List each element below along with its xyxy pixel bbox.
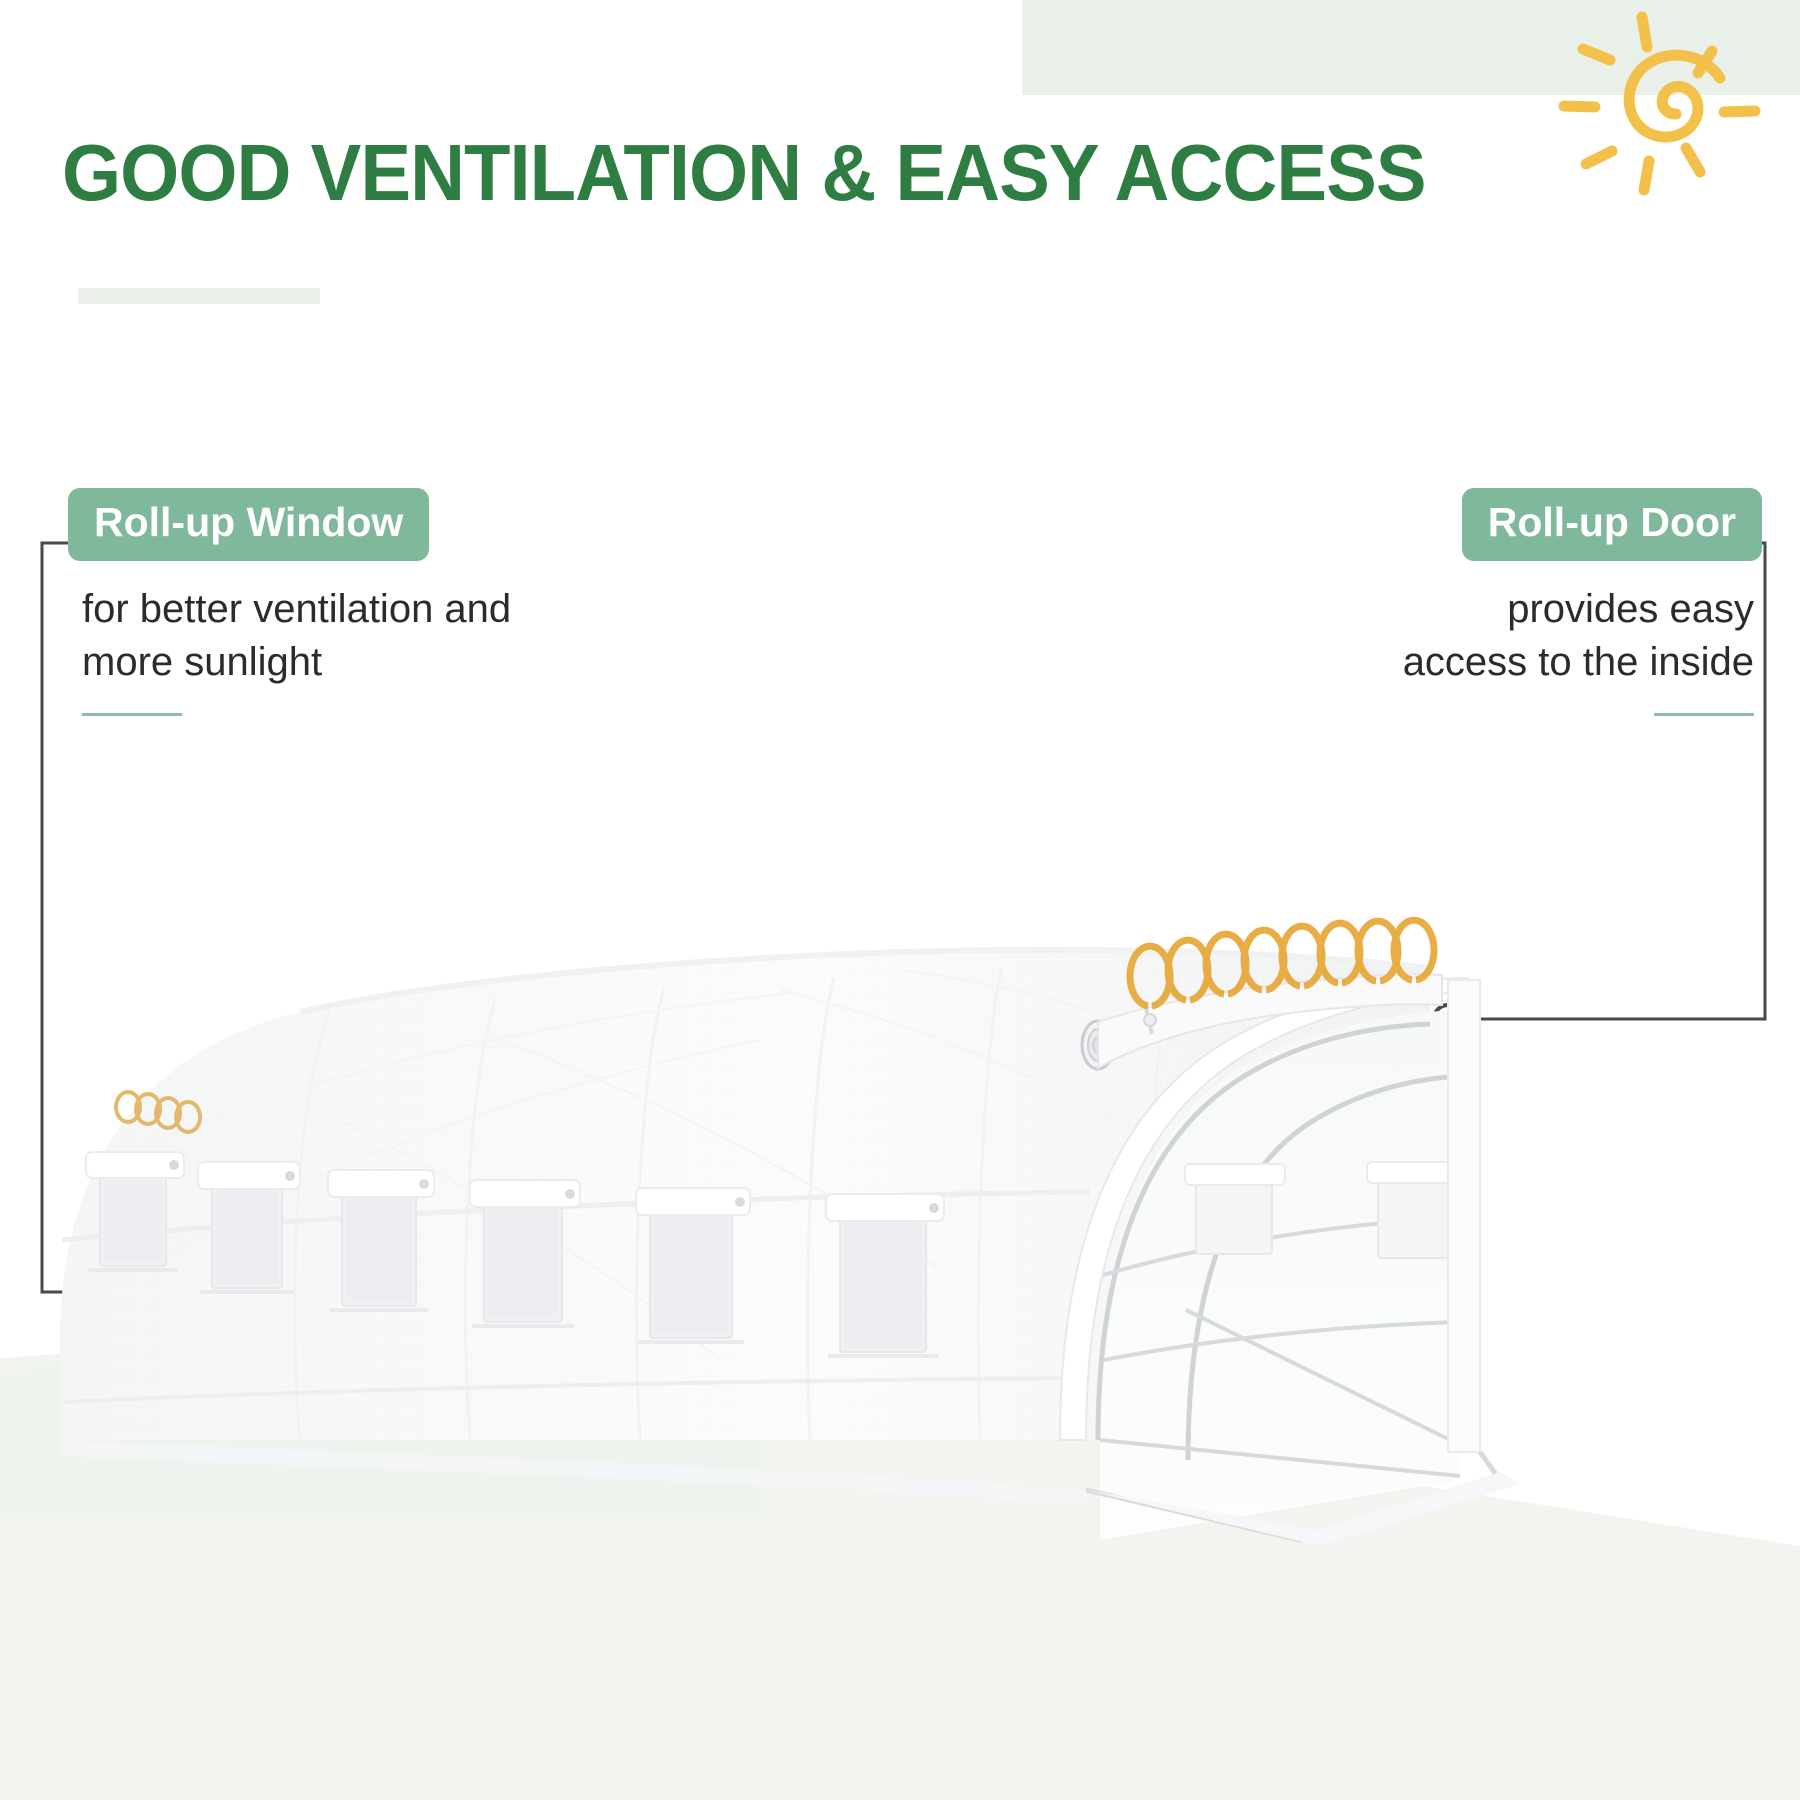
description-roll-up-door: provides easy access to the inside xyxy=(1403,583,1754,689)
product-image-greenhouse xyxy=(0,840,1800,1600)
infographic-stage: GOOD VENTILATION & EASY ACCESS Roll-up W… xyxy=(0,0,1800,1800)
divider-rule-left xyxy=(82,713,182,716)
callout-roll-up-window: Roll-up Window for better ventilation an… xyxy=(68,488,511,716)
divider-rule-right xyxy=(1654,713,1754,716)
badge-roll-up-window[interactable]: Roll-up Window xyxy=(68,488,429,561)
page-title: GOOD VENTILATION & EASY ACCESS xyxy=(62,133,1426,213)
sun-spiral-icon xyxy=(1548,0,1798,209)
callout-roll-up-door: Roll-up Door provides easy access to the… xyxy=(1403,488,1762,716)
badge-roll-up-door[interactable]: Roll-up Door xyxy=(1462,488,1762,561)
title-underline-accent-bar xyxy=(78,288,320,304)
description-roll-up-window: for better ventilation and more sunlight xyxy=(82,583,511,689)
